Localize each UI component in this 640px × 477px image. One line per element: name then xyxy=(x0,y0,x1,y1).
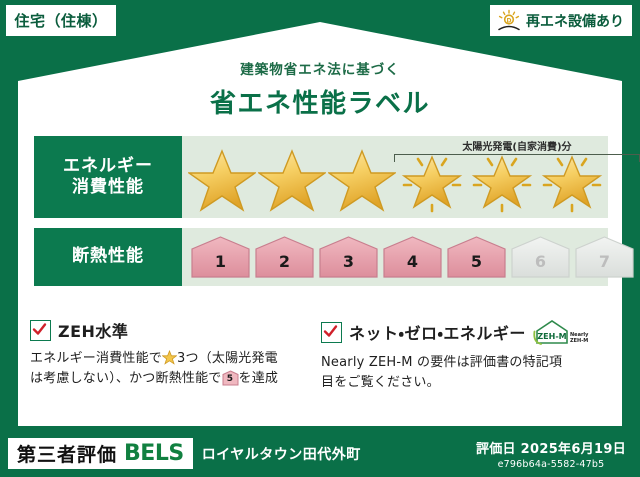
evaluation-date-label: 評価日 xyxy=(476,442,516,457)
energy-performance-row: エネルギー 消費性能 xyxy=(34,136,608,218)
star-1 xyxy=(188,147,256,213)
insulation-level-5: 5 xyxy=(446,235,507,279)
energy-performance-label: 住宅（住棟） D 再エネ設備あり 建築物省エネ法に基づく 省エネ性能ラベル xyxy=(0,0,640,477)
insulation-level-7: 7 xyxy=(574,235,635,279)
energy-name-line1: エネルギー xyxy=(63,156,153,177)
zeh-criteria-body: エネルギー消費性能で3つ（太陽光発電 は考慮しない）、かつ断熱性能で5を達成 xyxy=(30,349,311,389)
renewable-equipment-badge: D 再エネ設備あり xyxy=(490,5,632,36)
svg-text:D: D xyxy=(507,17,512,24)
property-name: ロイヤルタウン田代外町 xyxy=(202,444,361,464)
insulation-performance-row: 断熱性能 1 xyxy=(34,228,608,286)
net-zero-body-line2: 目をご覧ください。 xyxy=(321,375,440,390)
zeh-body-part3: は考慮しない）、かつ断熱性能で xyxy=(30,371,222,386)
star-3 xyxy=(328,147,396,213)
net-zero-criteria-header: ネット・ゼロ・エネルギー ZEH-M Nearly ZEH-M xyxy=(321,318,602,346)
star-4-solar xyxy=(398,147,466,213)
bels-en-label: BELS xyxy=(124,441,184,466)
insulation-level-3: 3 xyxy=(318,235,379,279)
evaluation-date-value: 2025年6月19日 xyxy=(521,442,626,457)
zeh-criteria-column: ZEH水準 エネルギー消費性能で3つ（太陽光発電 は考慮しない）、かつ断熱性能で… xyxy=(30,318,321,393)
insulation-level-2: 2 xyxy=(254,235,315,279)
zeh-checkbox[interactable] xyxy=(30,320,51,341)
zeh-criteria-title: ZEH水準 xyxy=(58,318,128,342)
star-5-solar xyxy=(468,147,536,213)
sun-icon: D xyxy=(496,9,522,33)
zeh-m-logo-icon: ZEH-M Nearly ZEH-M xyxy=(532,318,590,346)
energy-performance-name: エネルギー 消費性能 xyxy=(34,136,182,218)
inline-house-number: 5 xyxy=(222,373,239,387)
star-6-solar xyxy=(538,147,606,213)
building-type-tag: 住宅（住棟） xyxy=(6,5,116,36)
zeh-body-part4: を達成 xyxy=(239,371,279,386)
svg-text:ZEH-M: ZEH-M xyxy=(570,338,588,344)
zeh-body-part1: エネルギー消費性能で xyxy=(30,351,162,366)
insulation-level-1: 1 xyxy=(190,235,251,279)
bels-jp-label: 第三者評価 xyxy=(17,440,117,467)
evaluation-date: 評価日 2025年6月19日 xyxy=(476,438,626,457)
zeh-criteria-header: ZEH水準 xyxy=(30,318,311,342)
insulation-level-6: 6 xyxy=(510,235,571,279)
metrics-block: エネルギー 消費性能 xyxy=(34,136,608,296)
star-2 xyxy=(258,147,326,213)
label-subtitle: 建築物省エネ法に基づく xyxy=(0,58,640,78)
label-footer: 第三者評価 BELS ロイヤルタウン田代外町 評価日 2025年6月19日 e7… xyxy=(0,430,640,477)
energy-name-line2: 消費性能 xyxy=(72,177,144,198)
net-zero-criteria-title: ネット・ゼロ・エネルギー xyxy=(349,320,526,344)
net-zero-body-line1: Nearly ZEH-M の要件は評価書の特記項 xyxy=(321,355,562,370)
label-title-block: 建築物省エネ法に基づく 省エネ性能ラベル xyxy=(0,58,640,120)
insulation-level-4: 4 xyxy=(382,235,443,279)
criteria-block: ZEH水準 エネルギー消費性能で3つ（太陽光発電 は考慮しない）、かつ断熱性能で… xyxy=(30,318,612,393)
svg-text:ZEH-M: ZEH-M xyxy=(537,332,566,341)
net-zero-checkbox[interactable] xyxy=(321,322,342,343)
evaluation-id: e796b64a-5582-47b5 xyxy=(476,459,626,470)
insulation-name-line1: 断熱性能 xyxy=(72,246,144,267)
label-main-title: 省エネ性能ラベル xyxy=(0,83,640,120)
net-zero-criteria-column: ネット・ゼロ・エネルギー ZEH-M Nearly ZEH-M Nearly Z… xyxy=(321,318,612,393)
net-zero-criteria-body: Nearly ZEH-M の要件は評価書の特記項 目をご覧ください。 xyxy=(321,353,602,393)
insulation-level-scale: 1 2 3 4 xyxy=(182,235,635,279)
star-rating xyxy=(182,147,606,213)
building-type-label: 住宅（住棟） xyxy=(14,10,107,31)
insulation-performance-name: 断熱性能 xyxy=(34,228,182,286)
inline-star-icon xyxy=(162,350,177,365)
zeh-body-part2: 3つ（太陽光発電 xyxy=(177,351,278,366)
insulation-performance-body: 1 2 3 4 xyxy=(182,228,635,286)
renewable-badge-label: 再エネ設備あり xyxy=(526,11,624,31)
bels-certification-box: 第三者評価 BELS xyxy=(8,438,193,469)
evaluation-info: 評価日 2025年6月19日 e796b64a-5582-47b5 xyxy=(476,438,626,470)
energy-performance-body: 太陽光発電(自家消費)分 xyxy=(182,136,608,218)
inline-house-icon: 5 xyxy=(222,370,239,386)
